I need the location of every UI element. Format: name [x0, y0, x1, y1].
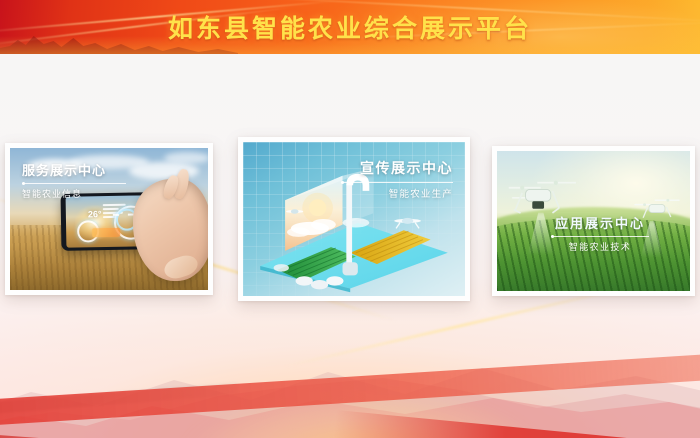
card-caption-right: 应用展示中心 智能农业技术 — [551, 213, 649, 253]
bullet-dot — [22, 182, 25, 185]
card-caption-center: 宣传展示中心 智能农业生产 — [341, 158, 453, 200]
title-underline — [551, 236, 649, 237]
page-title: 如东县智能农业综合展示平台 — [0, 0, 700, 54]
cloud-shape — [164, 152, 208, 164]
card-subtitle: 智能农业生产 — [341, 186, 453, 200]
hud-highlight-bar — [92, 228, 121, 238]
card-promotion-display-center[interactable]: 宣传展示中心 智能农业生产 — [238, 137, 470, 301]
title-underline — [22, 183, 126, 184]
card-image-right: 应用展示中心 智能农业技术 — [497, 151, 690, 291]
bullet-dot — [551, 235, 554, 238]
title-underline — [341, 182, 453, 183]
weather-temperature: 26° — [88, 210, 102, 220]
card-title: 应用展示中心 — [551, 213, 649, 232]
bullet-dot — [341, 181, 344, 184]
card-subtitle: 智能农业技术 — [551, 240, 649, 253]
card-image-center: 宣传展示中心 智能农业生产 — [243, 142, 465, 296]
header-banner: 如东县智能农业综合展示平台 — [0, 0, 700, 54]
card-application-display-center[interactable]: 应用展示中心 智能农业技术 — [492, 146, 695, 296]
card-subtitle: 智能农业信息 — [22, 187, 126, 200]
card-service-display-center[interactable]: 26° — [5, 143, 213, 295]
card-title: 宣传展示中心 — [341, 158, 453, 178]
card-title: 服务展示中心 — [22, 160, 126, 179]
card-caption-left: 服务展示中心 智能农业信息 — [22, 160, 126, 200]
card-image-left: 26° — [10, 148, 208, 290]
page-root: 如东县智能农业综合展示平台 26° — [0, 0, 700, 438]
